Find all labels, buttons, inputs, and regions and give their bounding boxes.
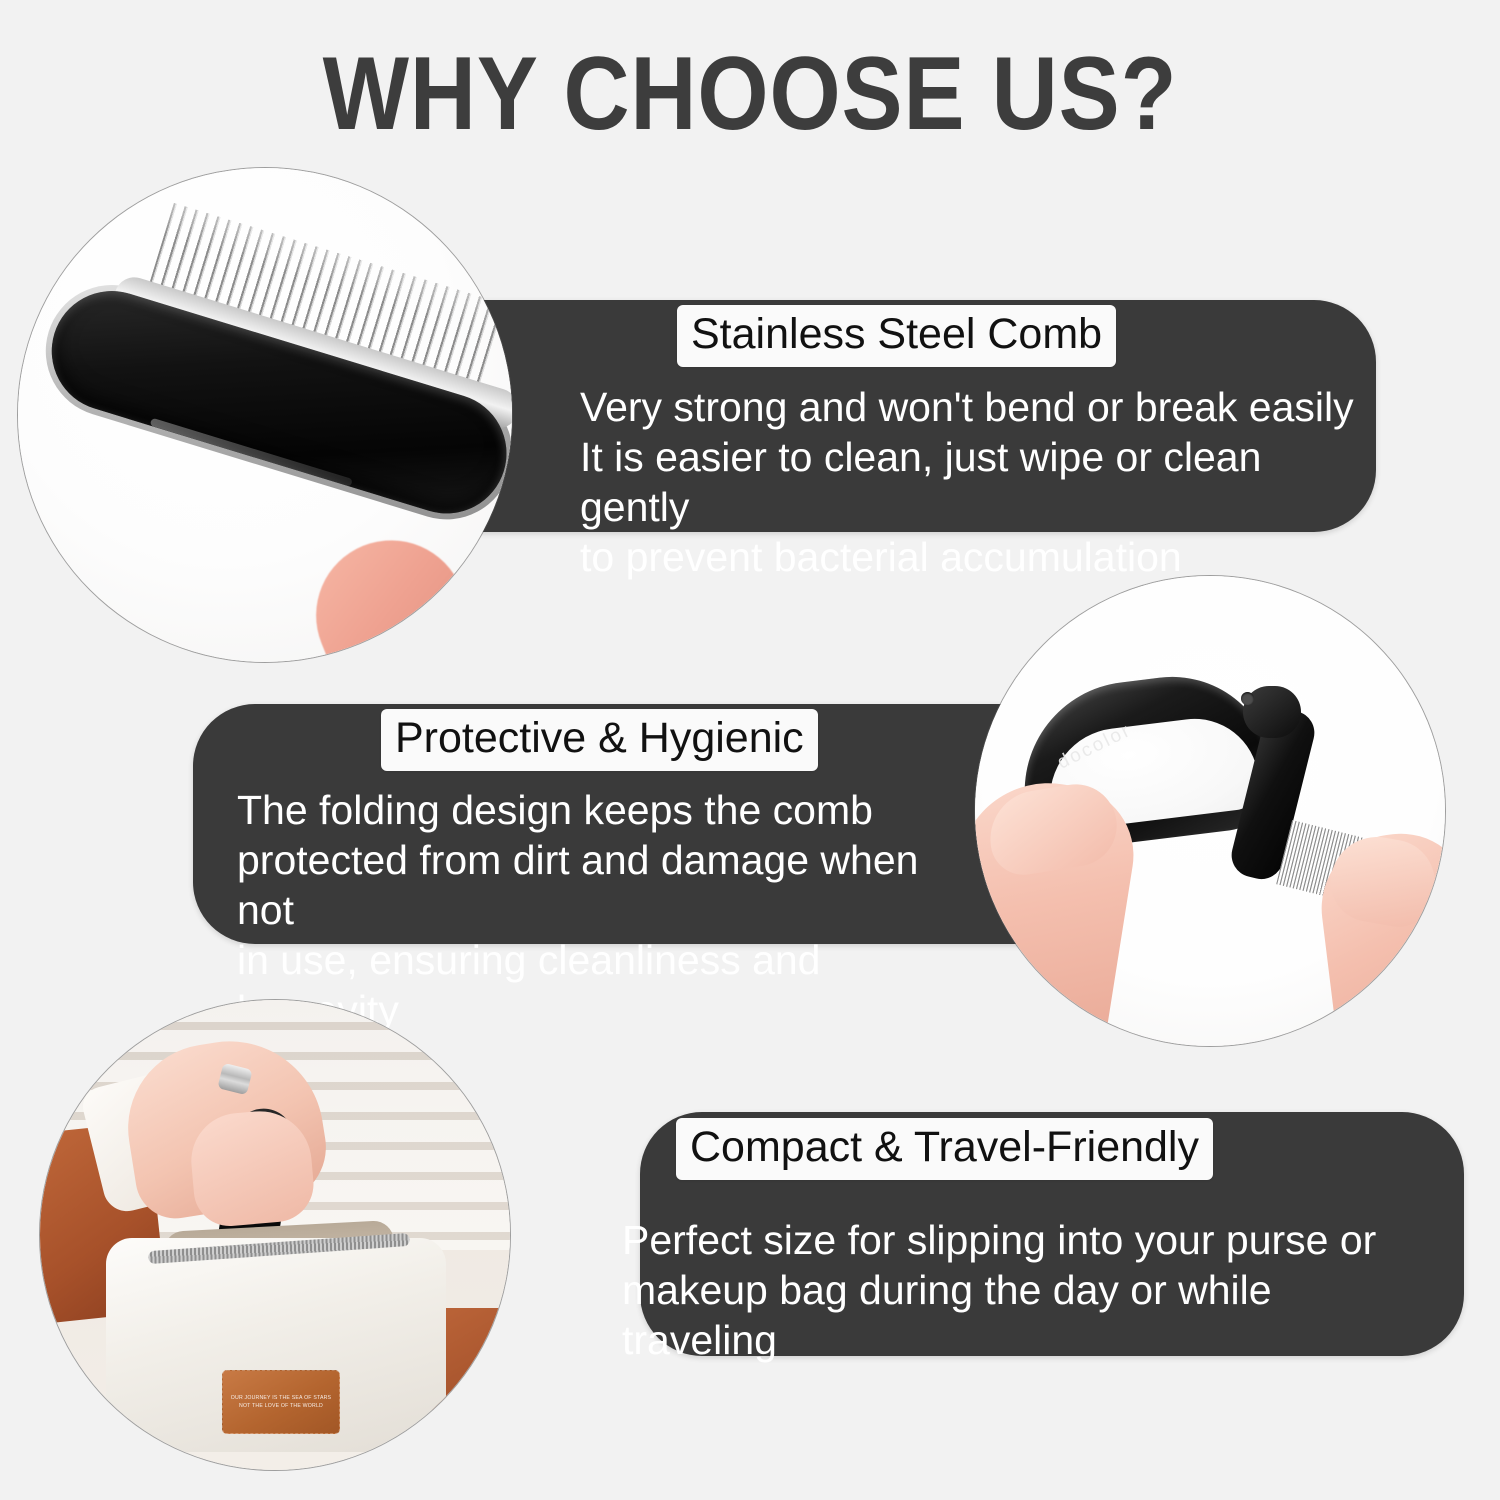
feature-body-2: The folding design keeps the comb protec… [237, 785, 957, 1035]
feature-heading-3: Compact & Travel-Friendly [676, 1118, 1213, 1180]
leather-patch: OUR JOURNEY IS THE SEA OF STARS NOT THE … [222, 1370, 340, 1434]
photo-1-content [18, 168, 512, 662]
feature-body-3: Perfect size for slipping into your purs… [622, 1215, 1422, 1365]
photo-3-content: docolor OUR JOURNEY IS THE SEA OF STARS … [40, 1000, 510, 1470]
product-photo-comb-teeth [18, 168, 512, 662]
feature-body-1: Very strong and won't bend or break easi… [580, 382, 1360, 582]
comb-seam [150, 418, 353, 487]
photo-2-content: docolor [975, 576, 1445, 1046]
page-title: WHY CHOOSE US? [90, 38, 1410, 150]
product-photo-travel-bag: docolor OUR JOURNEY IS THE SEA OF STARS … [40, 1000, 510, 1470]
product-photo-folding: docolor [975, 576, 1445, 1046]
feature-heading-1: Stainless Steel Comb [677, 305, 1116, 367]
leather-patch-text: OUR JOURNEY IS THE SEA OF STARS NOT THE … [231, 1394, 331, 1410]
infographic-page: WHY CHOOSE US? Stainless Steel Comb Very… [0, 0, 1500, 1500]
comb-hinge-pin [1241, 692, 1254, 705]
feature-heading-2: Protective & Hygienic [381, 709, 818, 771]
